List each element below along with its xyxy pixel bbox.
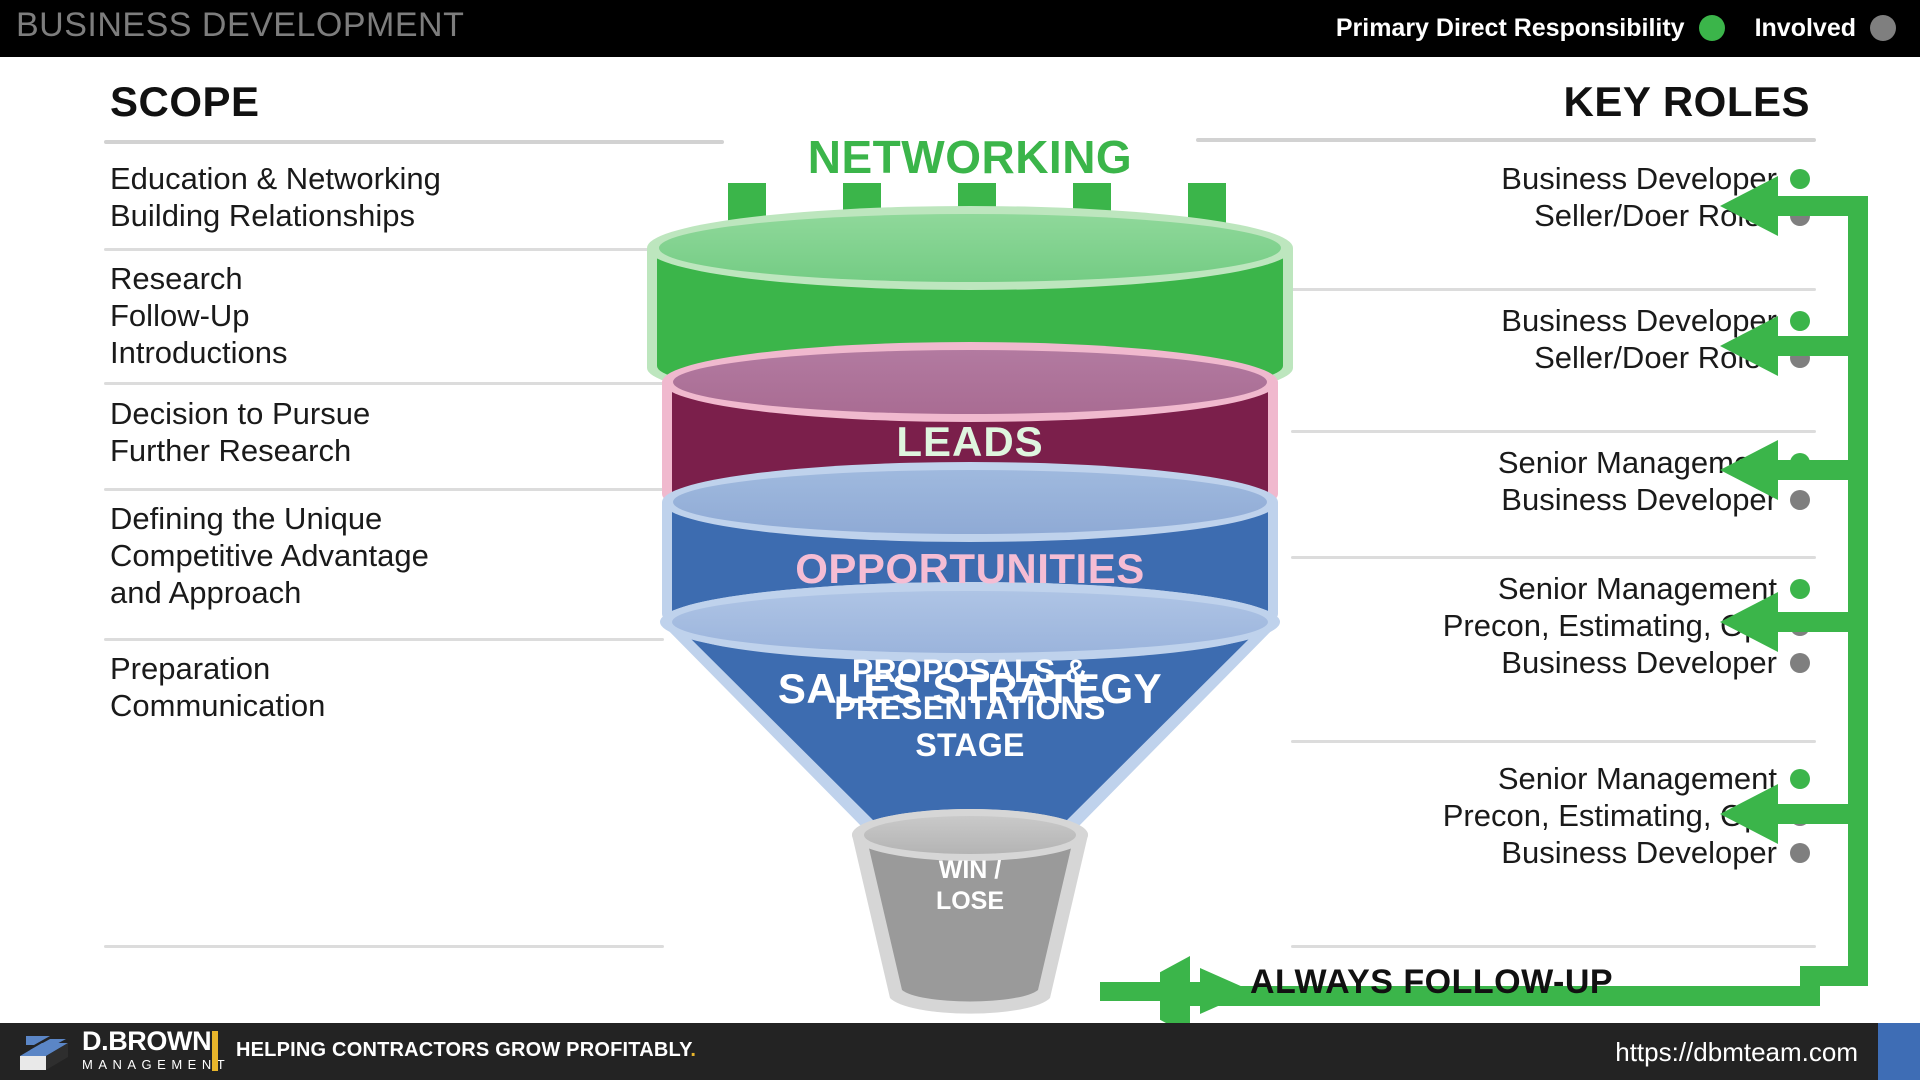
dbrown-logo-icon <box>16 1030 72 1074</box>
always-follow-up-label: ALWAYS FOLLOW-UP <box>1250 963 1613 1002</box>
scope-line: Decision to Pursue <box>110 395 370 432</box>
scope-group: Defining the UniqueCompetitive Advantage… <box>110 500 429 612</box>
followup-feedback-loop <box>1160 150 1920 1040</box>
legend-label-primary: Primary Direct Responsibility <box>1336 14 1685 43</box>
footer-edge-accent <box>1878 1023 1920 1080</box>
scope-group: ResearchFollow-UpIntroductions <box>110 260 288 372</box>
roles-column-heading: KEY ROLES <box>1564 78 1810 126</box>
scope-group: PreparationCommunication <box>110 650 325 724</box>
scope-line: Further Research <box>110 432 370 469</box>
legend-item-primary: Primary Direct Responsibility <box>1336 14 1725 43</box>
scope-line: Research <box>110 260 288 297</box>
green-status-dot-icon <box>1699 15 1725 41</box>
legend-label-involved: Involved <box>1755 14 1856 43</box>
title-bar: BUSINESS DEVELOPMENT Primary Direct Resp… <box>0 0 1920 57</box>
scope-line: Introductions <box>110 334 288 371</box>
scope-line: Preparation <box>110 650 325 687</box>
brand-lockup: D.BROWN MANAGEMENT <box>82 1028 230 1071</box>
footer-tagline: HELPING CONTRACTORS GROW PROFITABLY. <box>236 1039 696 1062</box>
scope-group-divider <box>104 638 664 641</box>
funnel-stage-win-lose <box>852 809 1088 1014</box>
scope-group-divider <box>104 945 664 948</box>
scope-group: Decision to PursueFurther Research <box>110 395 370 469</box>
scope-line: Building Relationships <box>110 197 441 234</box>
scope-line: and Approach <box>110 574 429 611</box>
footer-tagline-text: HELPING CONTRACTORS GROW PROFITABLY <box>236 1039 690 1061</box>
brand-subtitle: MANAGEMENT <box>82 1058 230 1071</box>
brand-name: D.BROWN <box>82 1028 230 1055</box>
winlose-to-followup-arrow <box>1100 962 1260 1022</box>
footer-url[interactable]: https://dbmteam.com <box>1615 1037 1858 1068</box>
scope-group-divider <box>104 248 664 251</box>
slide-root: BUSINESS DEVELOPMENT Primary Direct Resp… <box>0 0 1920 1080</box>
gray-status-dot-icon <box>1870 15 1896 41</box>
scope-heading-divider <box>104 140 724 144</box>
legend: Primary Direct Responsibility Involved <box>1336 8 1896 48</box>
legend-item-involved: Involved <box>1755 14 1896 43</box>
scope-line: Follow-Up <box>110 297 288 334</box>
loop-branch-arrows <box>1720 176 1854 844</box>
scope-column-heading: SCOPE <box>110 78 260 126</box>
page-title: BUSINESS DEVELOPMENT <box>16 6 464 45</box>
scope-line: Defining the Unique <box>110 500 429 537</box>
scope-group: Education & NetworkingBuilding Relations… <box>110 160 441 234</box>
brand-divider <box>212 1031 218 1071</box>
scope-group-divider <box>104 382 664 385</box>
scope-group-divider <box>104 488 664 491</box>
scope-line: Education & Networking <box>110 160 441 197</box>
footer-bar: D.BROWN MANAGEMENT HELPING CONTRACTORS G… <box>0 1023 1920 1080</box>
footer-tagline-dot: . <box>690 1039 696 1061</box>
scope-line: Competitive Advantage <box>110 537 429 574</box>
scope-line: Communication <box>110 687 325 724</box>
